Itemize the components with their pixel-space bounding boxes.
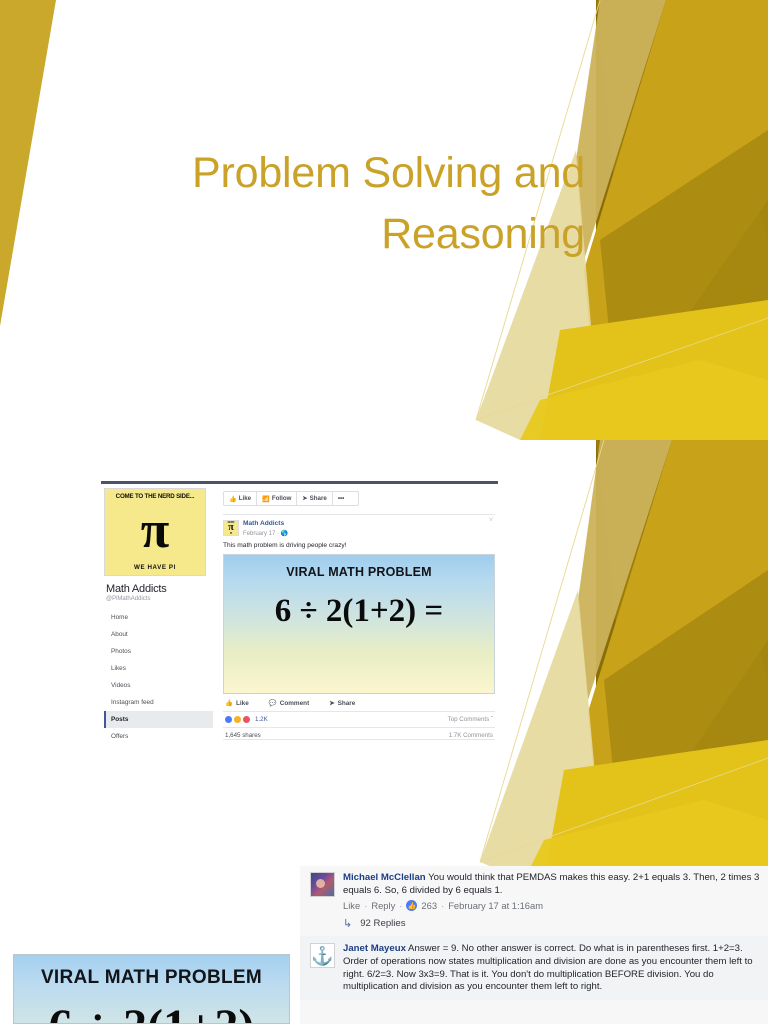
facebook-post: ˅ NERD π PI Math Addicts February 17 · 🌎 [223, 514, 495, 740]
page-handle: @PiMathAddicts [106, 596, 213, 602]
post-shares-row: 1,645 shares 1.7K Comments [223, 728, 495, 739]
top-comments-dropdown[interactable]: Top Comments ˇ [448, 716, 493, 723]
reply-arrow-icon: ↳ [343, 917, 352, 930]
avatar-bottom-text-small: PI [230, 532, 232, 535]
meta-separator: · [441, 900, 444, 911]
rss-follow-icon: 📶 [262, 495, 270, 503]
post-image-viral-math-problem[interactable]: VIRAL MATH PROBLEM 6 ÷ 2(1+2) = [223, 554, 495, 694]
sidebar-item-videos[interactable]: Videos [104, 677, 213, 694]
post-timestamp: February 17 · 🌎 [243, 530, 288, 537]
replies-count-label: 92 Replies [360, 918, 405, 929]
comment-author-name[interactable]: Michael McClellan [343, 872, 426, 883]
like-reaction-icon: 👍 [406, 900, 417, 911]
post-author-avatar[interactable]: NERD π PI [223, 520, 239, 536]
title-line-1: Problem Solving and [192, 149, 585, 197]
like-button[interactable]: 👍 Like [224, 492, 257, 505]
share-button[interactable]: ➤ Share [297, 492, 332, 505]
follow-button[interactable]: 📶 Follow [257, 492, 297, 505]
reaction-icons[interactable]: 1.2K [225, 716, 268, 723]
sidebar-item-about[interactable]: About [104, 626, 213, 643]
sidebar-item-likes[interactable]: Likes [104, 660, 213, 677]
post-like-label: Like [236, 700, 249, 707]
viral-math-problem-image-partial: VIRAL MATH PROBLEM 6 ÷ 2(1+2) [13, 954, 290, 1024]
page-name: Math Addicts [106, 583, 213, 595]
viral-math-problem-header: VIRAL MATH PROBLEM [41, 967, 262, 989]
post-reaction-row: 1.2K Top Comments ˇ [223, 712, 495, 728]
sidebar-item-home[interactable]: Home [104, 609, 213, 626]
comment-like-button[interactable]: Like [343, 900, 360, 911]
avatar[interactable]: ⚓ [310, 943, 335, 968]
comment-timestamp: February 17 at 1:16am [448, 900, 543, 911]
post-like-button[interactable]: 👍 Like [225, 699, 249, 707]
comment-item: ⚓ Janet Mayeux Answer = 9. No other answ… [300, 936, 768, 1000]
slide-title: Problem Solving and Reasoning [120, 143, 585, 265]
meta-separator: · [364, 900, 367, 911]
post-caption: This math problem is driving people craz… [223, 542, 495, 551]
comment-item: Michael McClellan You would think that P… [300, 866, 768, 936]
globe-icon: · 🌎 [277, 531, 288, 537]
thumbs-up-icon: 👍 [225, 699, 233, 707]
facebook-page-screenshot: COME TO THE NERD SIDE... π WE HAVE PI Ma… [101, 481, 498, 789]
post-comment-button[interactable]: 💬 Comment [269, 699, 309, 707]
comment-meta: Like · Reply · 👍 263 · February 17 at 1:… [343, 900, 760, 911]
post-date-label: February 17 [243, 531, 275, 537]
facebook-left-sidebar: COME TO THE NERD SIDE... π WE HAVE PI Ma… [101, 485, 213, 789]
comment-like-count: 263 [421, 900, 437, 911]
avatar-top-text: COME TO THE NERD SIDE... [116, 493, 195, 500]
post-image-equation: 6 ÷ 2(1+2) = [275, 593, 443, 630]
comment-reply-button[interactable]: Reply [371, 900, 395, 911]
chevron-down-icon[interactable]: ˅ [489, 517, 493, 524]
comment-author-name[interactable]: Janet Mayeux [343, 943, 406, 954]
page-action-bar: 👍 Like 📶 Follow ➤ Share ••• [223, 491, 359, 506]
post-image-header: VIRAL MATH PROBLEM [286, 565, 432, 579]
share-button-label: Share [310, 495, 327, 502]
post-comment-label: Comment [280, 700, 309, 707]
share-arrow-icon: ➤ [302, 495, 307, 502]
comment-replies-row[interactable]: ↳ 92 Replies [343, 917, 760, 930]
comment-count[interactable]: 1.7K Comments [449, 732, 493, 739]
share-count[interactable]: 1,645 shares [225, 732, 261, 739]
sidebar-item-instagram-feed[interactable]: Instagram feed [104, 694, 213, 711]
post-author-name[interactable]: Math Addicts [243, 520, 288, 529]
post-share-label: Share [338, 700, 356, 707]
pi-symbol-icon: π [141, 511, 170, 552]
avatar-bottom-text: WE HAVE PI [134, 564, 176, 571]
love-reaction-icon [243, 716, 250, 723]
facebook-main-column: 👍 Like 📶 Follow ➤ Share ••• ˅ [213, 485, 498, 789]
meta-separator: · [399, 900, 402, 911]
pi-symbol-icon-small: π [228, 524, 233, 532]
thumbs-up-icon: 👍 [229, 495, 237, 503]
sidebar-item-photos[interactable]: Photos [104, 643, 213, 660]
comment-text: Janet Mayeux Answer = 9. No other answer… [343, 943, 760, 994]
like-reaction-icon [225, 716, 232, 723]
comment-bubble-icon: 💬 [269, 699, 277, 707]
haha-reaction-icon [234, 716, 241, 723]
comment-text: Michael McClellan You would think that P… [343, 872, 760, 897]
sidebar-item-posts[interactable]: Posts [104, 711, 213, 728]
follow-button-label: Follow [272, 495, 292, 502]
title-line-2: Reasoning [381, 210, 585, 258]
page-profile-picture: COME TO THE NERD SIDE... π WE HAVE PI [104, 488, 206, 576]
like-button-label: Like [239, 495, 251, 502]
browser-top-bar [101, 481, 498, 484]
post-header: NERD π PI Math Addicts February 17 · 🌎 [223, 520, 495, 537]
post-engagement-bar: 👍 Like 💬 Comment ➤ Share [223, 694, 495, 712]
avatar[interactable] [310, 872, 335, 897]
page-title: Problem Solving and Reasoning [120, 143, 585, 265]
post-share-button[interactable]: ➤ Share [329, 699, 355, 707]
presentation-slide: Problem Solving and Reasoning COME TO TH… [0, 0, 768, 1024]
page-nav-list: Home About Photos Likes Videos Instagram… [104, 609, 213, 745]
reaction-count: 1.2K [255, 716, 268, 723]
viral-math-problem-equation: 6 ÷ 2(1+2) [49, 999, 255, 1024]
facebook-comments-screenshot: Michael McClellan You would think that P… [300, 866, 768, 1024]
sidebar-item-offers[interactable]: Offers [104, 728, 213, 745]
share-arrow-icon: ➤ [329, 699, 334, 707]
more-options-button[interactable]: ••• [333, 492, 350, 505]
